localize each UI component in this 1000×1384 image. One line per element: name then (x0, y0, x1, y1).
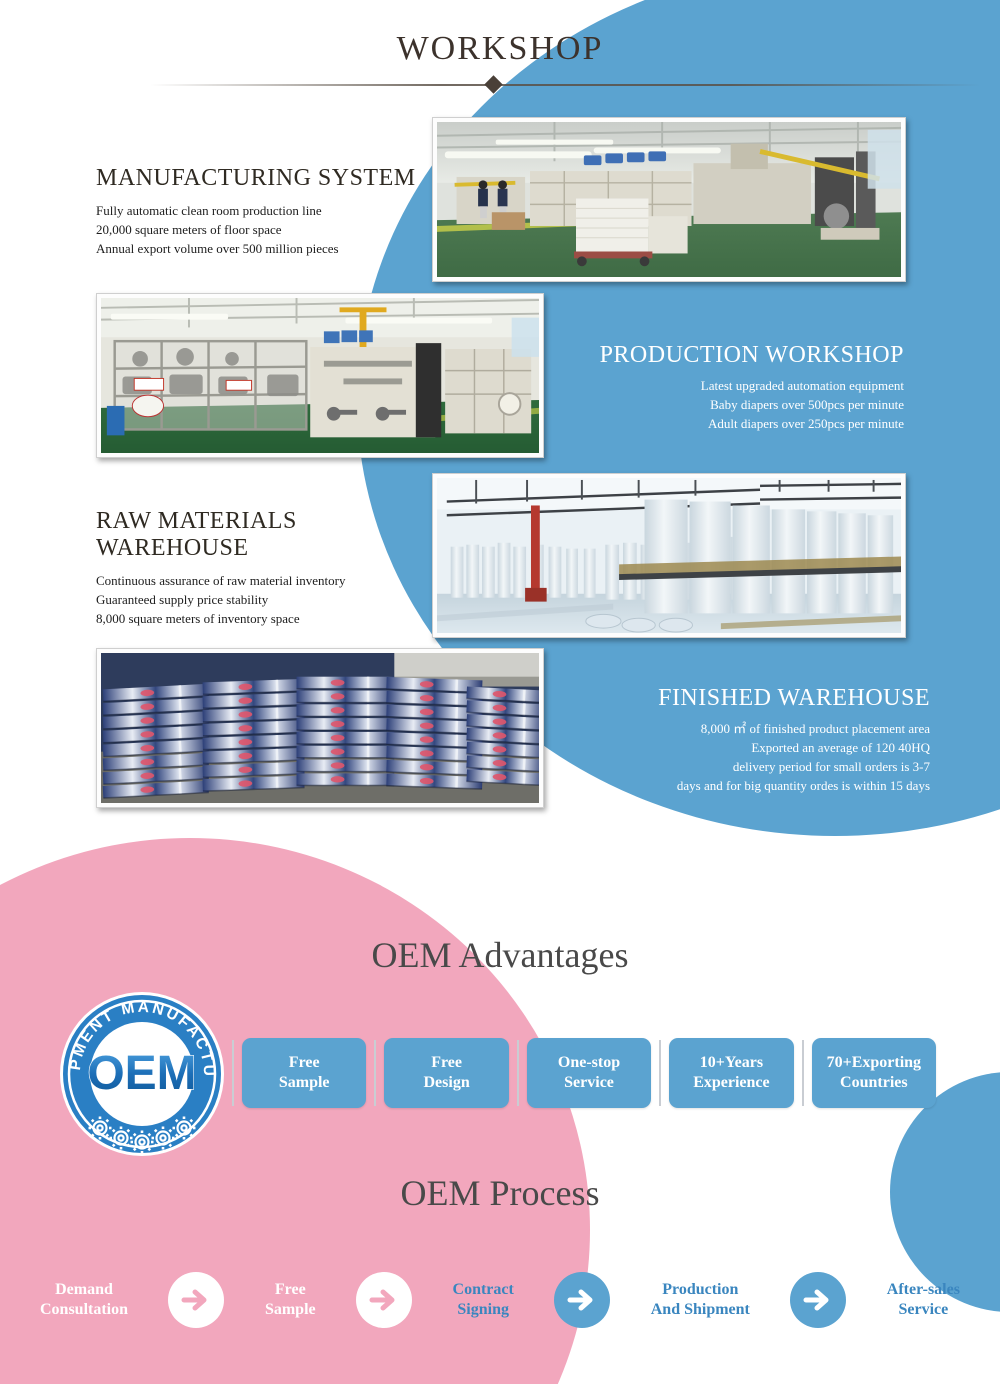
process-step-line2: And Shipment (651, 1300, 750, 1320)
block-finished-warehouse: FINISHED WAREHOUSE 8,000 ㎡ of finished p… (550, 685, 930, 795)
advantage-divider (232, 1040, 234, 1106)
block-manufacturing-system: MANUFACTURING SYSTEM Fully automatic cle… (96, 165, 426, 259)
process-step-after-sales-service: After-sales Service (887, 1280, 960, 1320)
line-finished-2: Exported an average of 120 40HQ (550, 739, 930, 758)
line-production-3: Adult diapers over 250pcs per minute (564, 415, 904, 434)
process-step-line1: Production (651, 1280, 750, 1300)
process-step-line2: Sample (265, 1300, 316, 1320)
advantage-divider (374, 1040, 376, 1106)
photo-production-workshop (96, 293, 544, 458)
process-step-line1: Demand (40, 1280, 128, 1300)
line-production-1: Latest upgraded automation equipment (564, 377, 904, 396)
process-step-line1: Contract (453, 1280, 514, 1300)
block-production-workshop: PRODUCTION WORKSHOP Latest upgraded auto… (564, 342, 904, 434)
line-raw-2: Guaranteed supply price stability (96, 591, 436, 610)
line-raw-3: 8,000 square meters of inventory space (96, 610, 436, 629)
title-divider-rule (150, 84, 980, 86)
process-step-demand-consultation: Demand Consultation (40, 1280, 128, 1320)
oem-process-row: Demand Consultation Free Sample Contract… (40, 1258, 960, 1342)
arrow-right-icon (168, 1272, 224, 1328)
arrow-right-icon (554, 1272, 610, 1328)
process-step-contract-signing: Contract Signing (453, 1280, 514, 1320)
advantage-free-design[interactable]: Free Design (384, 1038, 508, 1108)
line-manufacturing-2: 20,000 square meters of floor space (96, 221, 426, 240)
advantage-line2: Design (423, 1073, 469, 1093)
section-title-oem-process: OEM Process (0, 1172, 1000, 1214)
line-finished-4: days and for big quantity ordes is withi… (550, 777, 930, 796)
heading-production-workshop: PRODUCTION WORKSHOP (564, 342, 904, 369)
process-step-production-and-shipment: Production And Shipment (651, 1280, 750, 1320)
line-raw-1: Continuous assurance of raw material inv… (96, 572, 436, 591)
photo-finished-warehouse (96, 648, 544, 808)
page-title: WORKSHOP (0, 30, 1000, 68)
advantage-divider (517, 1040, 519, 1106)
advantage-exporting-countries[interactable]: 70+Exporting Countries (812, 1038, 936, 1108)
line-manufacturing-3: Annual export volume over 500 million pi… (96, 240, 426, 259)
advantage-line2: Sample (279, 1073, 330, 1093)
photo-raw-materials-warehouse (432, 473, 906, 638)
advantage-line1: 10+Years (700, 1053, 763, 1073)
photo-manufacturing-system (432, 117, 906, 282)
advantage-line1: Free (431, 1053, 462, 1073)
process-step-line1: After-sales (887, 1280, 960, 1300)
advantage-line2: Experience (693, 1073, 769, 1093)
section-title-oem-advantages: OEM Advantages (0, 934, 1000, 976)
heading-raw-materials-warehouse: RAW MATERIALS WAREHOUSE (96, 508, 436, 562)
advantage-one-stop-service[interactable]: One-stop Service (527, 1038, 651, 1108)
advantage-line2: Service (564, 1073, 614, 1093)
process-step-free-sample: Free Sample (265, 1280, 316, 1320)
arrow-right-icon (356, 1272, 412, 1328)
advantage-line1: 70+Exporting (827, 1053, 921, 1073)
badge-center-text: OEM (87, 1047, 196, 1100)
process-step-line1: Free (265, 1280, 316, 1300)
heading-finished-warehouse: FINISHED WAREHOUSE (550, 685, 930, 712)
process-step-line2: Signing (453, 1300, 514, 1320)
advantage-line1: Free (289, 1053, 320, 1073)
block-raw-materials-warehouse: RAW MATERIALS WAREHOUSE Continuous assur… (96, 508, 436, 629)
line-production-2: Baby diapers over 500pcs per minute (564, 396, 904, 415)
oem-manufacturer-badge: EQUIPMENT MANUFACTURER OEM (56, 988, 228, 1160)
advantage-years-experience[interactable]: 10+Years Experience (669, 1038, 793, 1108)
line-finished-3: delivery period for small orders is 3-7 (550, 758, 930, 777)
advantage-line2: Countries (840, 1073, 908, 1093)
advantage-free-sample[interactable]: Free Sample (242, 1038, 366, 1108)
advantage-divider (802, 1040, 804, 1106)
process-step-line2: Consultation (40, 1300, 128, 1320)
line-manufacturing-1: Fully automatic clean room production li… (96, 202, 426, 221)
process-step-line2: Service (887, 1300, 960, 1320)
arrow-right-icon (790, 1272, 846, 1328)
advantage-line1: One-stop (558, 1053, 620, 1073)
advantage-divider (659, 1040, 661, 1106)
heading-manufacturing-system: MANUFACTURING SYSTEM (96, 165, 426, 192)
line-finished-1: 8,000 ㎡ of finished product placement ar… (550, 720, 930, 739)
oem-advantages-row: Free Sample Free Design One-stop Service… (232, 1034, 944, 1112)
